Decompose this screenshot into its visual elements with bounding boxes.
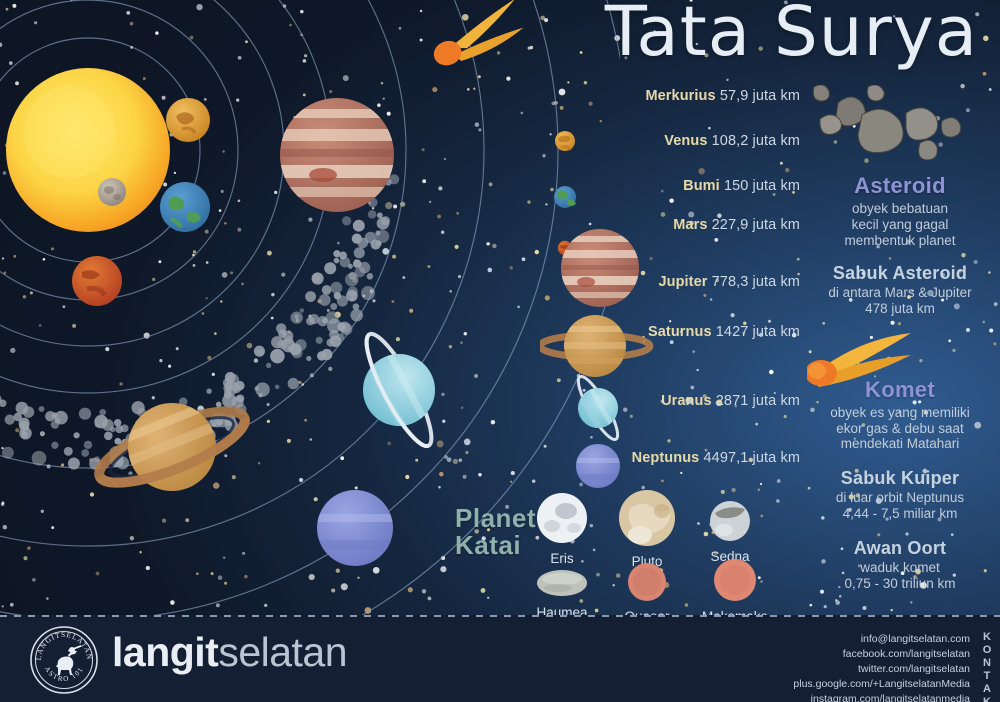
planet-jupiter-orbit [277, 98, 397, 212]
dwarf-item-haumea: Haumea [525, 568, 599, 620]
langitselatan-logo: LANGITSELATAN ASTRO 101 [28, 624, 100, 696]
asteroid-description: obyek bebatuan kecil yang gagal membentu… [800, 201, 1000, 249]
komet-desc-line: mendekati Matahari [800, 436, 1000, 452]
planet-mercury-orbit [98, 178, 126, 206]
belt-line: 478 juta km [800, 301, 1000, 317]
brand-bold: langit [112, 629, 218, 675]
comet-icon [425, 0, 529, 69]
planet-name: Uranus [661, 393, 712, 409]
dashed-divider [0, 615, 1000, 617]
planet-distance: 1427 juta km [716, 324, 800, 340]
planet-name: Jupiter [658, 274, 707, 290]
planet-venus-orbit [166, 98, 210, 142]
oort-line: waduk komet [800, 560, 1000, 576]
planet-neptune-orbit [313, 490, 397, 566]
brand-wordmark: langitselatan [112, 629, 347, 676]
haumea-icon [536, 568, 588, 598]
contact-list: info@langitselatan.com facebook.com/lang… [793, 632, 970, 702]
kuiper-line: 4,44 - 7,5 miliar km [800, 506, 1000, 522]
kuiper-description: di luar orbit Neptunus 4,44 - 7,5 miliar… [800, 490, 1000, 522]
contact-email[interactable]: info@langitselatan.com [793, 632, 970, 647]
planet-name: Venus [664, 133, 707, 149]
planet-distance: 57,9 juta km [720, 88, 800, 104]
kuiper-line: di luar orbit Neptunus [800, 490, 1000, 506]
komet-description: obyek es yang memiliki ekor gas & debu s… [800, 405, 1000, 453]
dwarf-item-sedna: Sedna [701, 500, 759, 564]
size-mercury [559, 89, 566, 96]
kuiper-heading: Sabuk Kuiper [800, 468, 1000, 489]
planet-distance: 227,9 juta km [712, 217, 800, 233]
asteroid-cluster-icon [810, 85, 990, 171]
contact-facebook[interactable]: facebook.com/langitselatan [793, 647, 970, 662]
komet-desc-line: ekor gas & debu saat [800, 421, 1000, 437]
sedna-icon [709, 500, 751, 542]
right-info-column: Asteroid obyek bebatuan kecil yang gagal… [800, 85, 1000, 592]
size-earth [554, 186, 576, 208]
asteroid-desc-line: kecil yang gagal [800, 217, 1000, 233]
dwarf-name: Eris [533, 551, 591, 566]
asteroid-desc-line: membentuk planet [800, 233, 1000, 249]
logo-ring-top: LANGITSELATAN [35, 631, 93, 661]
planet-name: Saturnus [648, 324, 712, 340]
planet-distance: 4497,1 juta km [703, 450, 800, 466]
planet-label-row: Jupiter 778,3 juta km [658, 274, 800, 290]
contact-twitter[interactable]: twitter.com/langitselatan [793, 662, 970, 677]
dwarf-item-pluto: Pluto [615, 489, 679, 569]
planet-label-row: Saturnus 1427 juta km [648, 324, 800, 340]
oort-line: 0,75 - 30 triliun km [800, 576, 1000, 592]
planet-distance: 150 juta km [724, 178, 800, 194]
planet-name: Merkurius [645, 88, 715, 104]
komet-desc-line: obyek es yang memiliki [800, 405, 1000, 421]
brand-light: selatan [218, 629, 347, 675]
page-title: Tata Surya [605, 0, 978, 72]
oort-heading: Awan Oort [800, 538, 1000, 559]
footer: LANGITSELATAN ASTRO 101 langitselatan in… [0, 615, 1000, 702]
dwarf-planet-group: Eris Pluto Sedna Hau [455, 492, 800, 617]
planet-distance: 2871 juta km [716, 393, 800, 409]
infographic-poster: Tata Surya [0, 0, 1000, 702]
planet-name: Mars [673, 217, 707, 233]
contact-googleplus[interactable]: plus.google.com/+LangitselatanMedia [793, 677, 970, 692]
planet-name: Neptunus [632, 450, 700, 466]
planet-label-row: Uranus 2871 juta km [661, 393, 800, 409]
planet-label-row: Merkurius 57,9 juta km [645, 88, 800, 104]
size-venus [555, 131, 575, 151]
planet-label-row: Neptunus 4497,1 juta km [632, 450, 800, 466]
kontak-label: KONTAK [981, 631, 993, 702]
planet-label-row: Bumi 150 juta km [683, 178, 800, 194]
asteroid-belt-heading: Sabuk Asteroid [800, 263, 1000, 284]
quaoar-icon [627, 562, 667, 602]
asteroid-belt-description: di antara Mars & Jupiter 478 juta km [800, 285, 1000, 317]
oort-description: waduk komet 0,75 - 30 triliun km [800, 560, 1000, 592]
sun [6, 68, 170, 232]
planet-name: Bumi [683, 178, 720, 194]
planet-earth-orbit [160, 182, 210, 232]
eris-icon [536, 492, 588, 544]
planet-mars-orbit [72, 256, 122, 306]
planet-distance: 108,2 juta km [712, 133, 800, 149]
planet-distance: 778,3 juta km [712, 274, 800, 290]
dwarf-item-eris: Eris [533, 492, 591, 566]
planet-label-list: Merkurius 57,9 juta km Venus 108,2 juta … [600, 78, 800, 498]
planet-label-row: Mars 227,9 juta km [673, 217, 800, 233]
planet-label-row: Venus 108,2 juta km [664, 133, 800, 149]
pluto-icon [618, 489, 676, 547]
svg-text:LANGITSELATAN: LANGITSELATAN [35, 631, 93, 661]
belt-line: di antara Mars & Jupiter [800, 285, 1000, 301]
asteroid-desc-line: obyek bebatuan [800, 201, 1000, 217]
contact-instagram[interactable]: instagram.com/langitselatanmedia [793, 692, 970, 702]
asteroid-heading: Asteroid [800, 173, 1000, 199]
makemake-icon [713, 558, 757, 602]
